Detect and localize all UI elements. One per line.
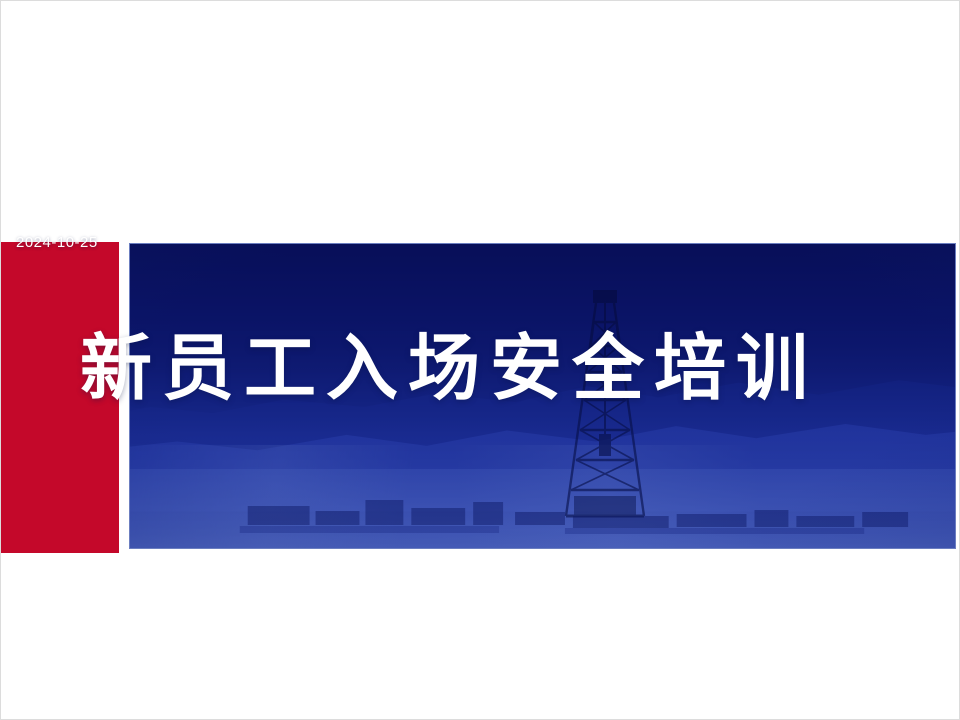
title-date: 2024-10-25 xyxy=(16,234,98,252)
page-title: 新员工入场安全培训 xyxy=(80,333,818,405)
title-slide: 新员工入场安全培训 2024-10-25 xyxy=(0,0,960,720)
